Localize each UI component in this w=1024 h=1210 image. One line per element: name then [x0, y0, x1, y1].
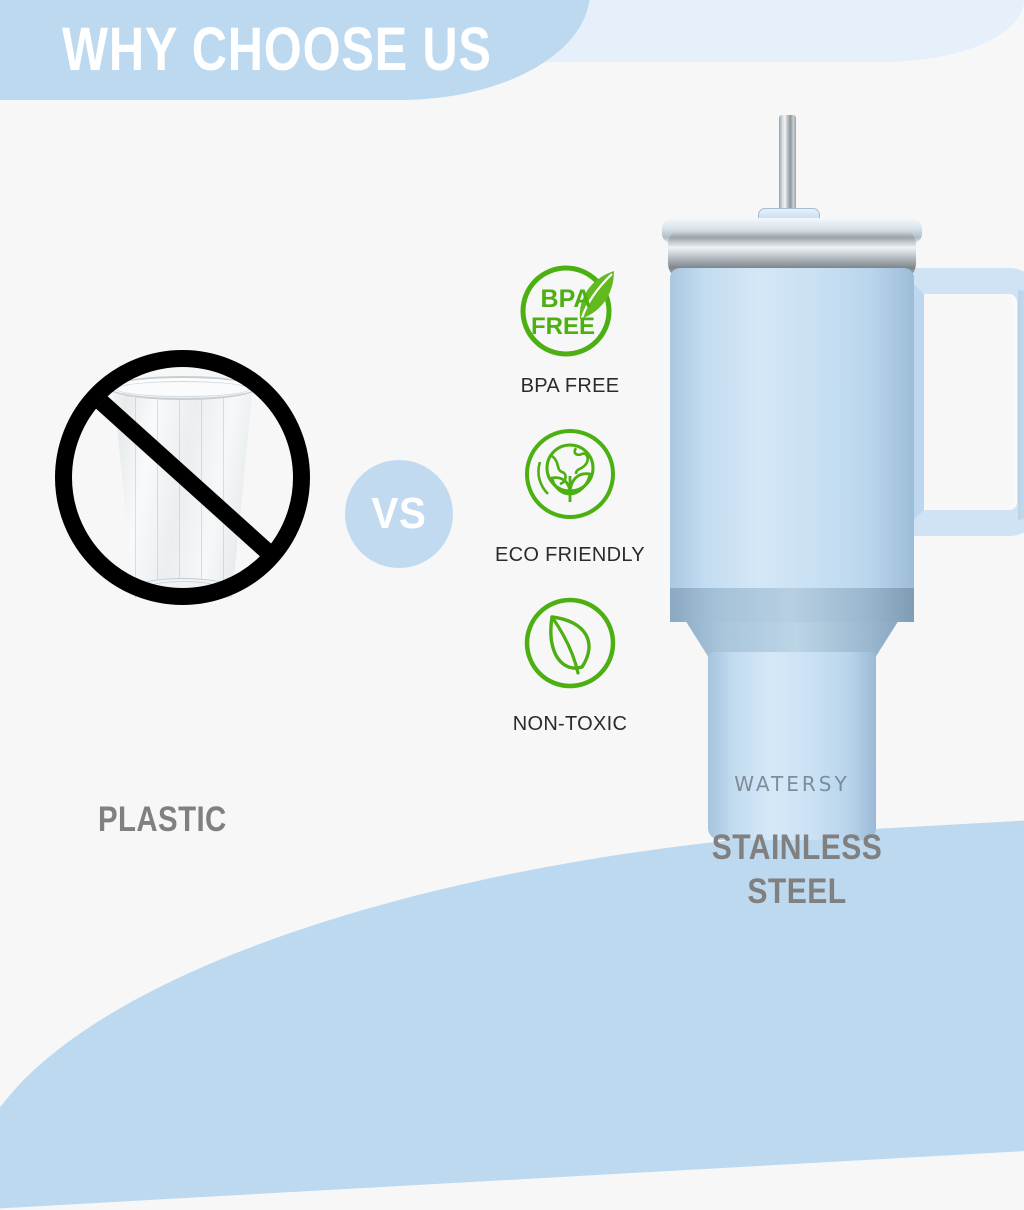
page-title: WHY CHOOSE US — [62, 19, 492, 80]
plastic-label: PLASTIC — [98, 800, 227, 840]
non-toxic-leaf-icon — [516, 593, 624, 701]
stainless-steel-label-line2: STEEL — [690, 870, 905, 914]
metal-straw-icon — [779, 115, 796, 220]
infographic-canvas: WHY CHOOSE US PLASTIC VS — [0, 0, 1024, 1024]
stainless-steel-label-line1: STAINLESS — [690, 826, 905, 870]
stainless-steel-label: STAINLESS STEEL — [672, 826, 922, 914]
svg-text:BPA: BPA — [541, 285, 592, 313]
tumbler-brand-logo: WATERSY — [708, 772, 876, 796]
tumbler-body-lower — [708, 652, 876, 840]
tumbler-handle-shadow — [1018, 290, 1024, 520]
tumbler-handle — [898, 268, 1024, 536]
tumbler-body-band — [670, 588, 914, 622]
tumbler-body-upper — [670, 268, 914, 598]
bpa-free-badge-icon: BPA FREE — [516, 255, 624, 363]
eco-friendly-globe-icon — [516, 424, 624, 532]
vs-label: VS — [372, 489, 427, 539]
vs-badge: VS — [345, 460, 453, 568]
plastic-cup-group — [55, 350, 325, 620]
svg-text:FREE: FREE — [531, 313, 595, 340]
stainless-steel-tumbler-illustration: WATERSY — [640, 100, 1024, 830]
